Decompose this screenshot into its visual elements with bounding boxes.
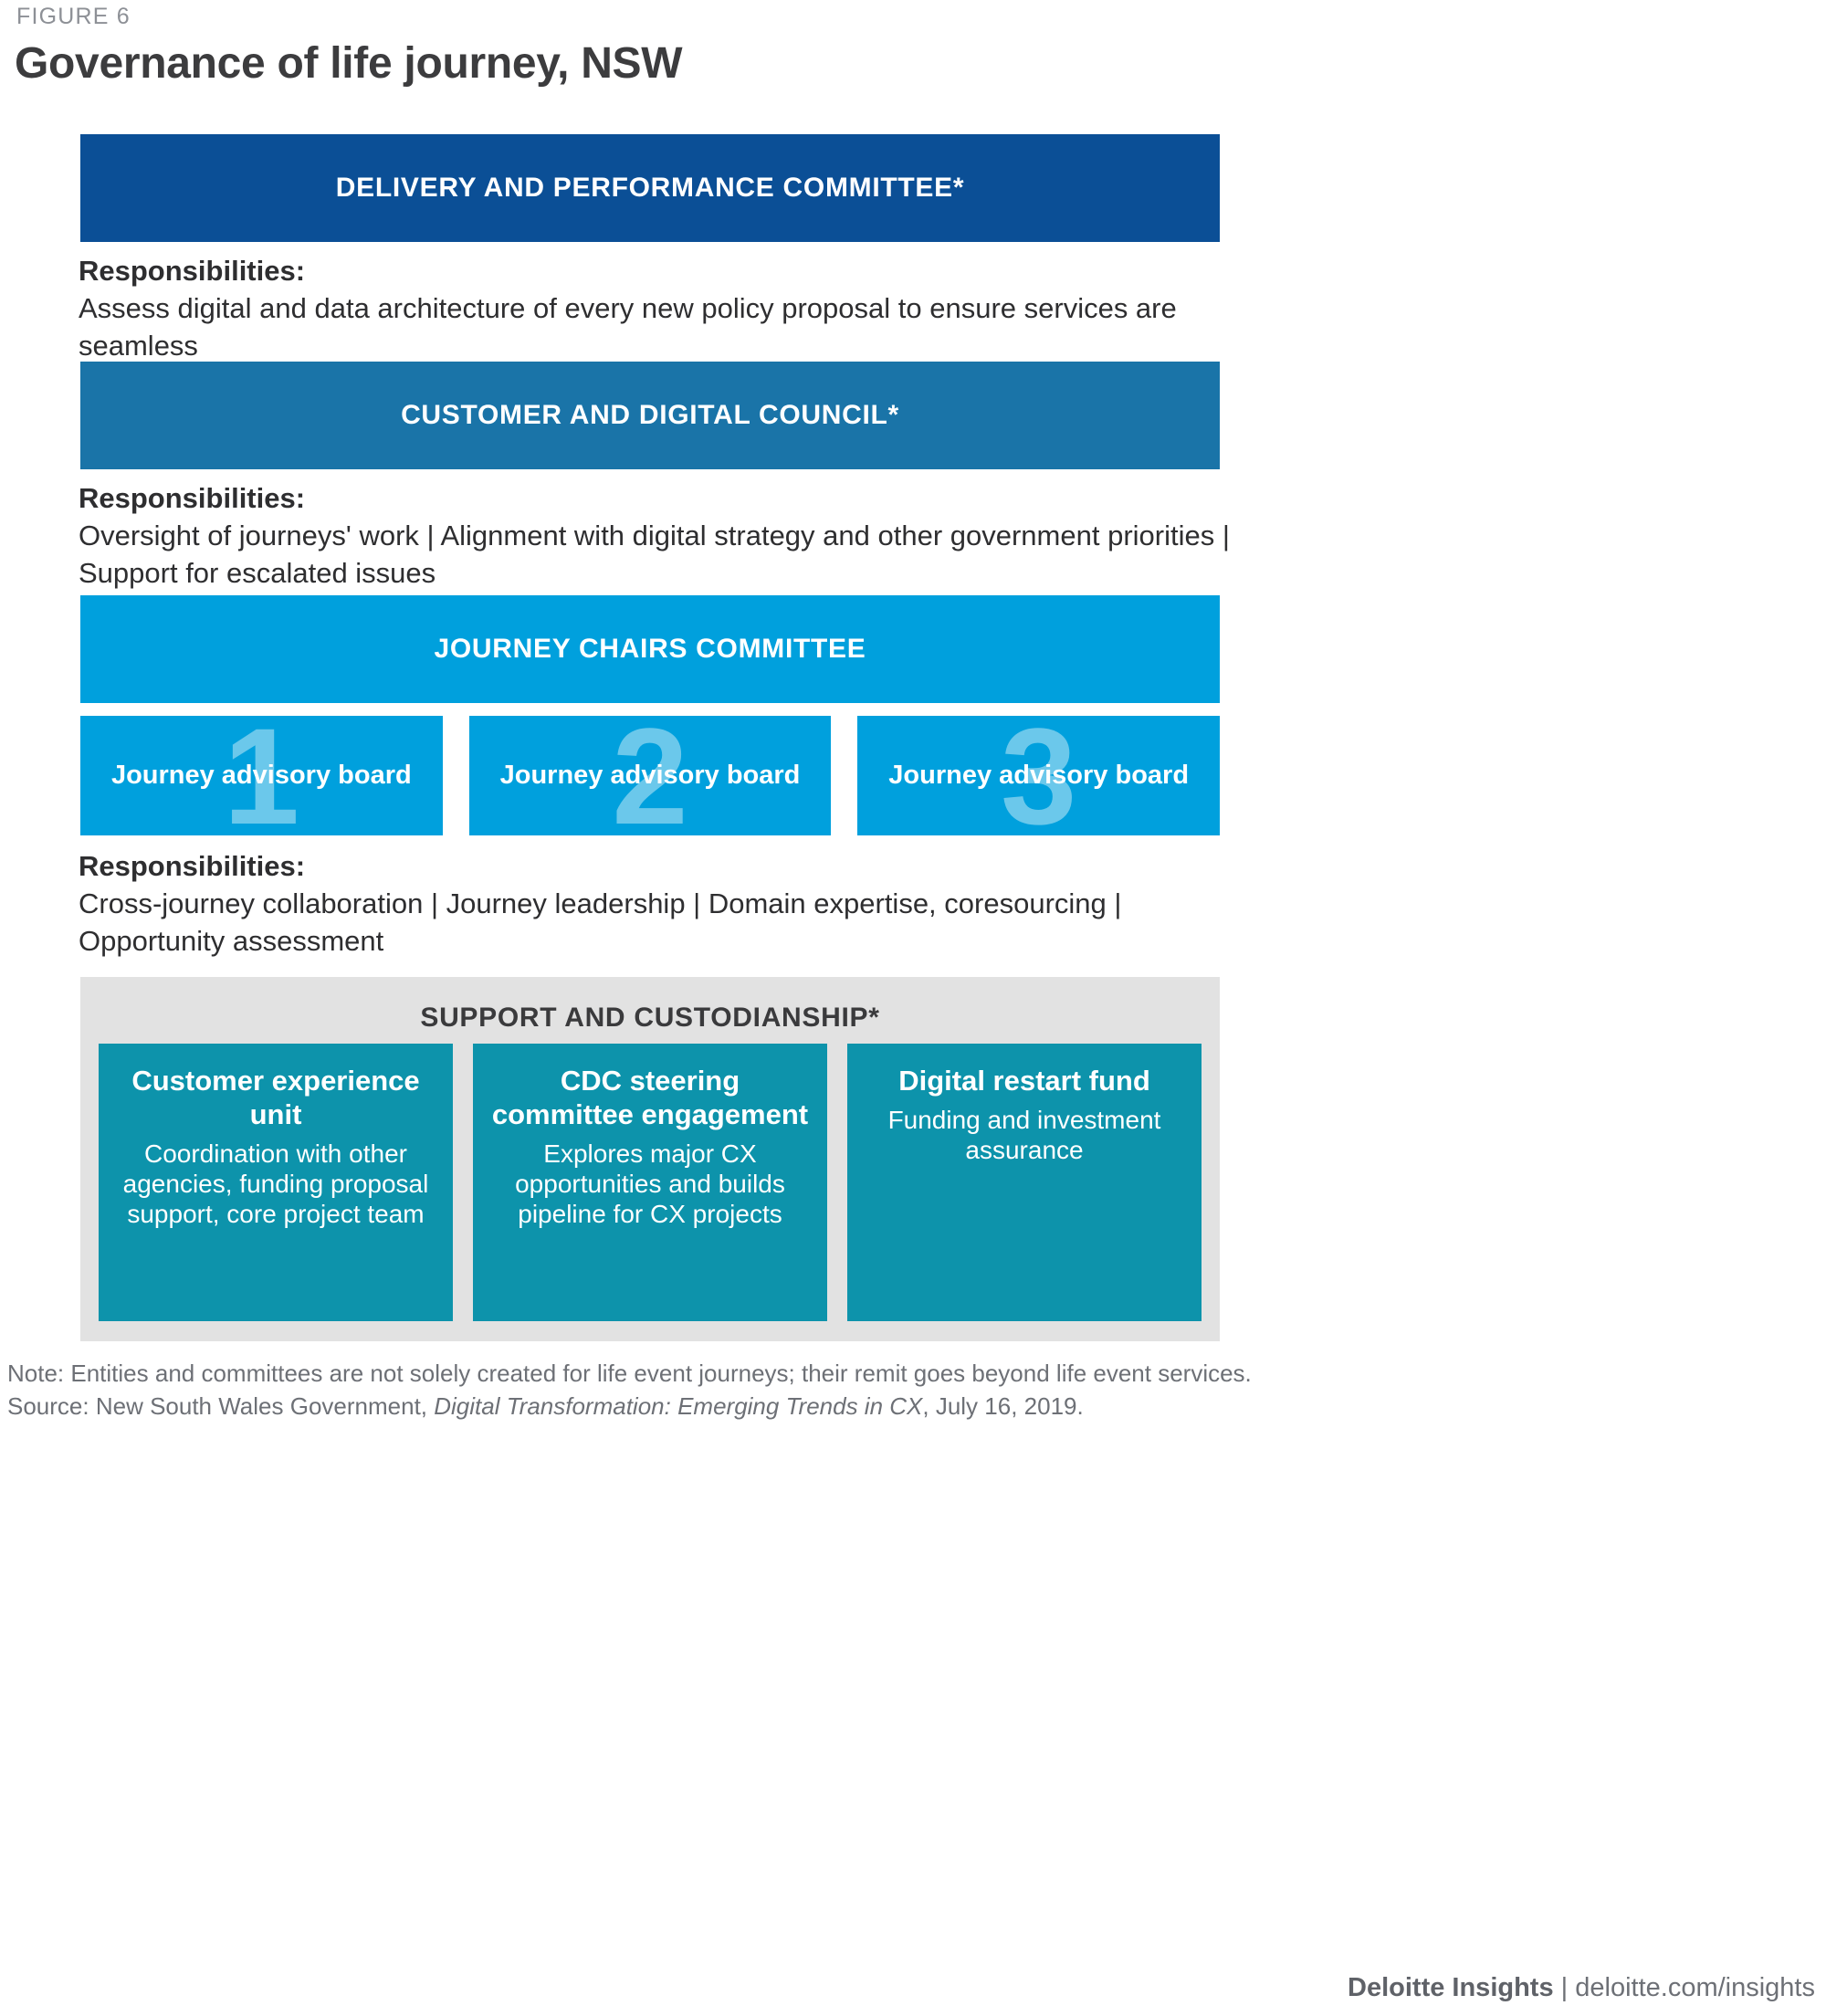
support-card-cdc-steering-committee: CDC steering committee engagement Explor… bbox=[473, 1044, 827, 1321]
responsibilities-journey-chairs: Responsibilities: Cross-journey collabor… bbox=[79, 847, 1238, 960]
source-document-title: Digital Transformation: Emerging Trends … bbox=[434, 1392, 922, 1420]
responsibilities-text: Cross-journey collaboration | Journey le… bbox=[79, 885, 1238, 960]
support-card-row: Customer experience unit Coordination wi… bbox=[99, 1044, 1202, 1321]
journey-advisory-board-card: 3 Journey advisory board bbox=[857, 716, 1220, 835]
responsibilities-council: Responsibilities: Oversight of journeys'… bbox=[79, 479, 1238, 592]
figure-source: Source: New South Wales Government, Digi… bbox=[7, 1390, 1084, 1423]
responsibilities-text: Oversight of journeys' work | Alignment … bbox=[79, 517, 1238, 592]
source-prefix: Source: New South Wales Government, bbox=[7, 1392, 434, 1420]
banner-label: DELIVERY AND PERFORMANCE COMMITTEE* bbox=[336, 173, 964, 204]
journey-advisory-board-row: 1 Journey advisory board 2 Journey advis… bbox=[80, 716, 1220, 835]
banner-delivery-performance-committee: DELIVERY AND PERFORMANCE COMMITTEE* bbox=[80, 134, 1220, 242]
footer-url[interactable]: deloitte.com/insights bbox=[1575, 1973, 1815, 2002]
support-card-customer-experience-unit: Customer experience unit Coordination wi… bbox=[99, 1044, 453, 1321]
support-card-title: Digital restart fund bbox=[860, 1064, 1189, 1097]
brand-name: Deloitte Insights bbox=[1348, 1973, 1554, 2002]
figure-container: FIGURE 6 Governance of life journey, NSW… bbox=[0, 0, 1826, 2016]
journey-advisory-board-card: 2 Journey advisory board bbox=[469, 716, 832, 835]
footer-separator: | bbox=[1554, 1973, 1576, 2002]
support-custodianship-panel: SUPPORT AND CUSTODIANSHIP* Customer expe… bbox=[80, 977, 1220, 1341]
banner-label: CUSTOMER AND DIGITAL COUNCIL* bbox=[401, 400, 899, 431]
banner-customer-digital-council: CUSTOMER AND DIGITAL COUNCIL* bbox=[80, 362, 1220, 469]
responsibilities-heading: Responsibilities: bbox=[79, 847, 1238, 885]
support-card-digital-restart-fund: Digital restart fund Funding and investm… bbox=[847, 1044, 1202, 1321]
source-suffix: , July 16, 2019. bbox=[922, 1392, 1083, 1420]
support-custodianship-title: SUPPORT AND CUSTODIANSHIP* bbox=[80, 1003, 1220, 1034]
board-label: Journey advisory board bbox=[888, 761, 1189, 791]
support-card-description: Explores major CX opportunities and buil… bbox=[486, 1139, 814, 1229]
banner-journey-chairs-committee: JOURNEY CHAIRS COMMITTEE bbox=[80, 595, 1220, 703]
board-label: Journey advisory board bbox=[500, 761, 801, 791]
figure-note: Note: Entities and committees are not so… bbox=[7, 1357, 1252, 1390]
responsibilities-text: Assess digital and data architecture of … bbox=[79, 289, 1238, 364]
deloitte-insights-footer: Deloitte Insights | deloitte.com/insight… bbox=[1348, 1973, 1815, 2003]
support-card-title: CDC steering committee engagement bbox=[486, 1064, 814, 1131]
support-card-title: Customer experience unit bbox=[111, 1064, 440, 1131]
responsibilities-delivery: Responsibilities: Assess digital and dat… bbox=[79, 252, 1238, 364]
journey-advisory-board-card: 1 Journey advisory board bbox=[80, 716, 443, 835]
responsibilities-heading: Responsibilities: bbox=[79, 479, 1238, 517]
board-label: Journey advisory board bbox=[111, 761, 412, 791]
support-card-description: Coordination with other agencies, fundin… bbox=[111, 1139, 440, 1229]
figure-label: FIGURE 6 bbox=[16, 4, 131, 30]
page-title: Governance of life journey, NSW bbox=[15, 38, 682, 89]
support-card-description: Funding and investment assurance bbox=[860, 1105, 1189, 1165]
banner-label: JOURNEY CHAIRS COMMITTEE bbox=[435, 634, 866, 665]
responsibilities-heading: Responsibilities: bbox=[79, 252, 1238, 289]
